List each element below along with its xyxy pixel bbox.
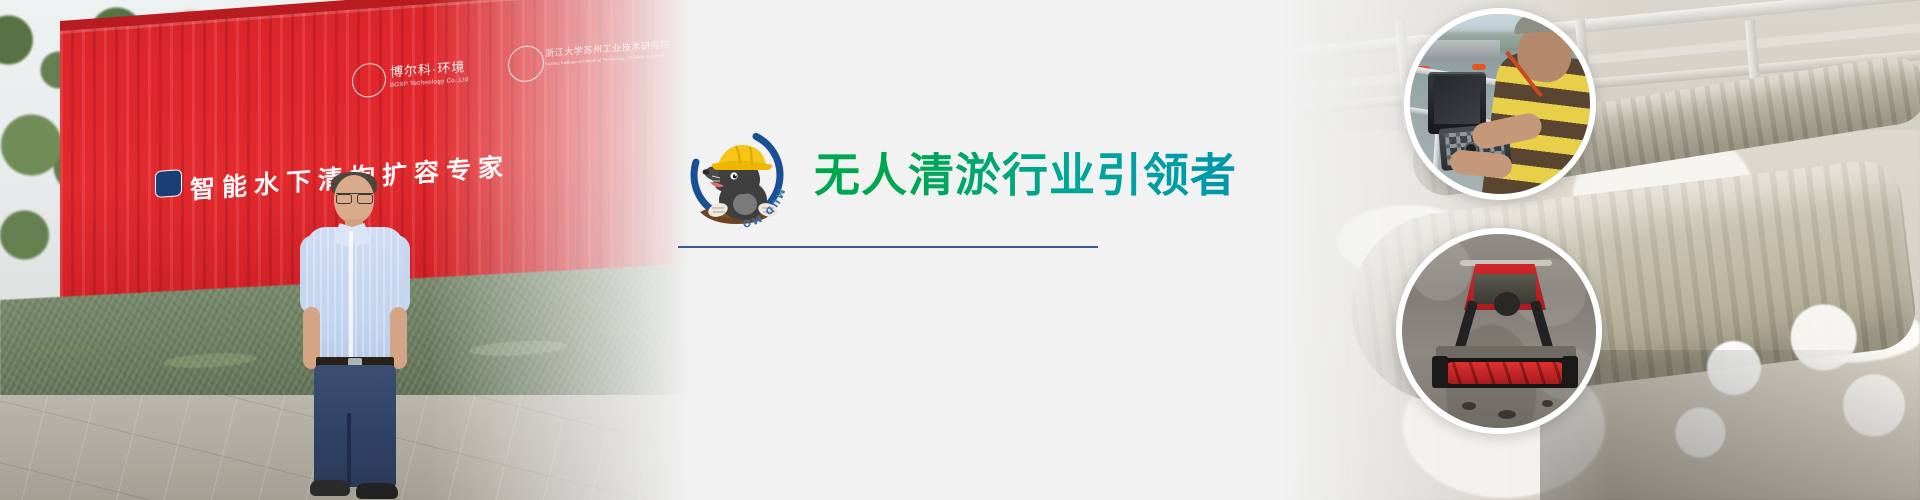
shirt-placket (349, 231, 353, 359)
shoe-left (310, 480, 350, 496)
container-brand-text: 博尔科·环境 BOXP Technology Co.,Ltd (390, 56, 469, 89)
slogan-badge-icon (155, 169, 182, 198)
right-photo-sludge-pipe (1280, 0, 1920, 500)
inset-photo-operator (1404, 8, 1596, 200)
shadow-overlay (1540, 350, 1920, 500)
shoe-right (356, 483, 398, 499)
jeans-seam (347, 413, 351, 487)
mud-mole-logo: MUD MOLE (682, 120, 792, 230)
hero-banner: 博尔科·环境 BOXP Technology Co.,Ltd 浙江大学苏州工业技… (0, 0, 1920, 500)
robot-motor (1494, 292, 1520, 316)
auger-flighting (1442, 362, 1568, 384)
divider-line (678, 246, 1098, 248)
left-photo-man-and-container: 博尔科·环境 BOXP Technology Co.,Ltd 浙江大学苏州工业技… (0, 0, 690, 500)
eyeglasses-icon (336, 193, 373, 201)
logo-and-headline-row: MUD MOLE 无人清淤行业引领者 (682, 120, 1237, 230)
debris (1498, 410, 1516, 419)
brand-cn: 博尔科·环境 (390, 59, 465, 80)
headline-text: 无人清淤行业引领者 (814, 152, 1237, 198)
auger-end-left (1432, 356, 1448, 388)
jeans (314, 365, 396, 487)
person-standing (300, 175, 410, 500)
inset-photo-dredging-robot (1396, 228, 1602, 434)
auger-end-right (1562, 356, 1578, 388)
controller-screen (1434, 76, 1480, 124)
plant-building (1412, 40, 1500, 62)
red-auger (1442, 362, 1568, 384)
orange-float (1472, 64, 1486, 70)
debris (1542, 400, 1553, 407)
debris (1462, 402, 1476, 410)
center-content: MUD MOLE 无人清淤行业引领者 (660, 0, 1260, 500)
